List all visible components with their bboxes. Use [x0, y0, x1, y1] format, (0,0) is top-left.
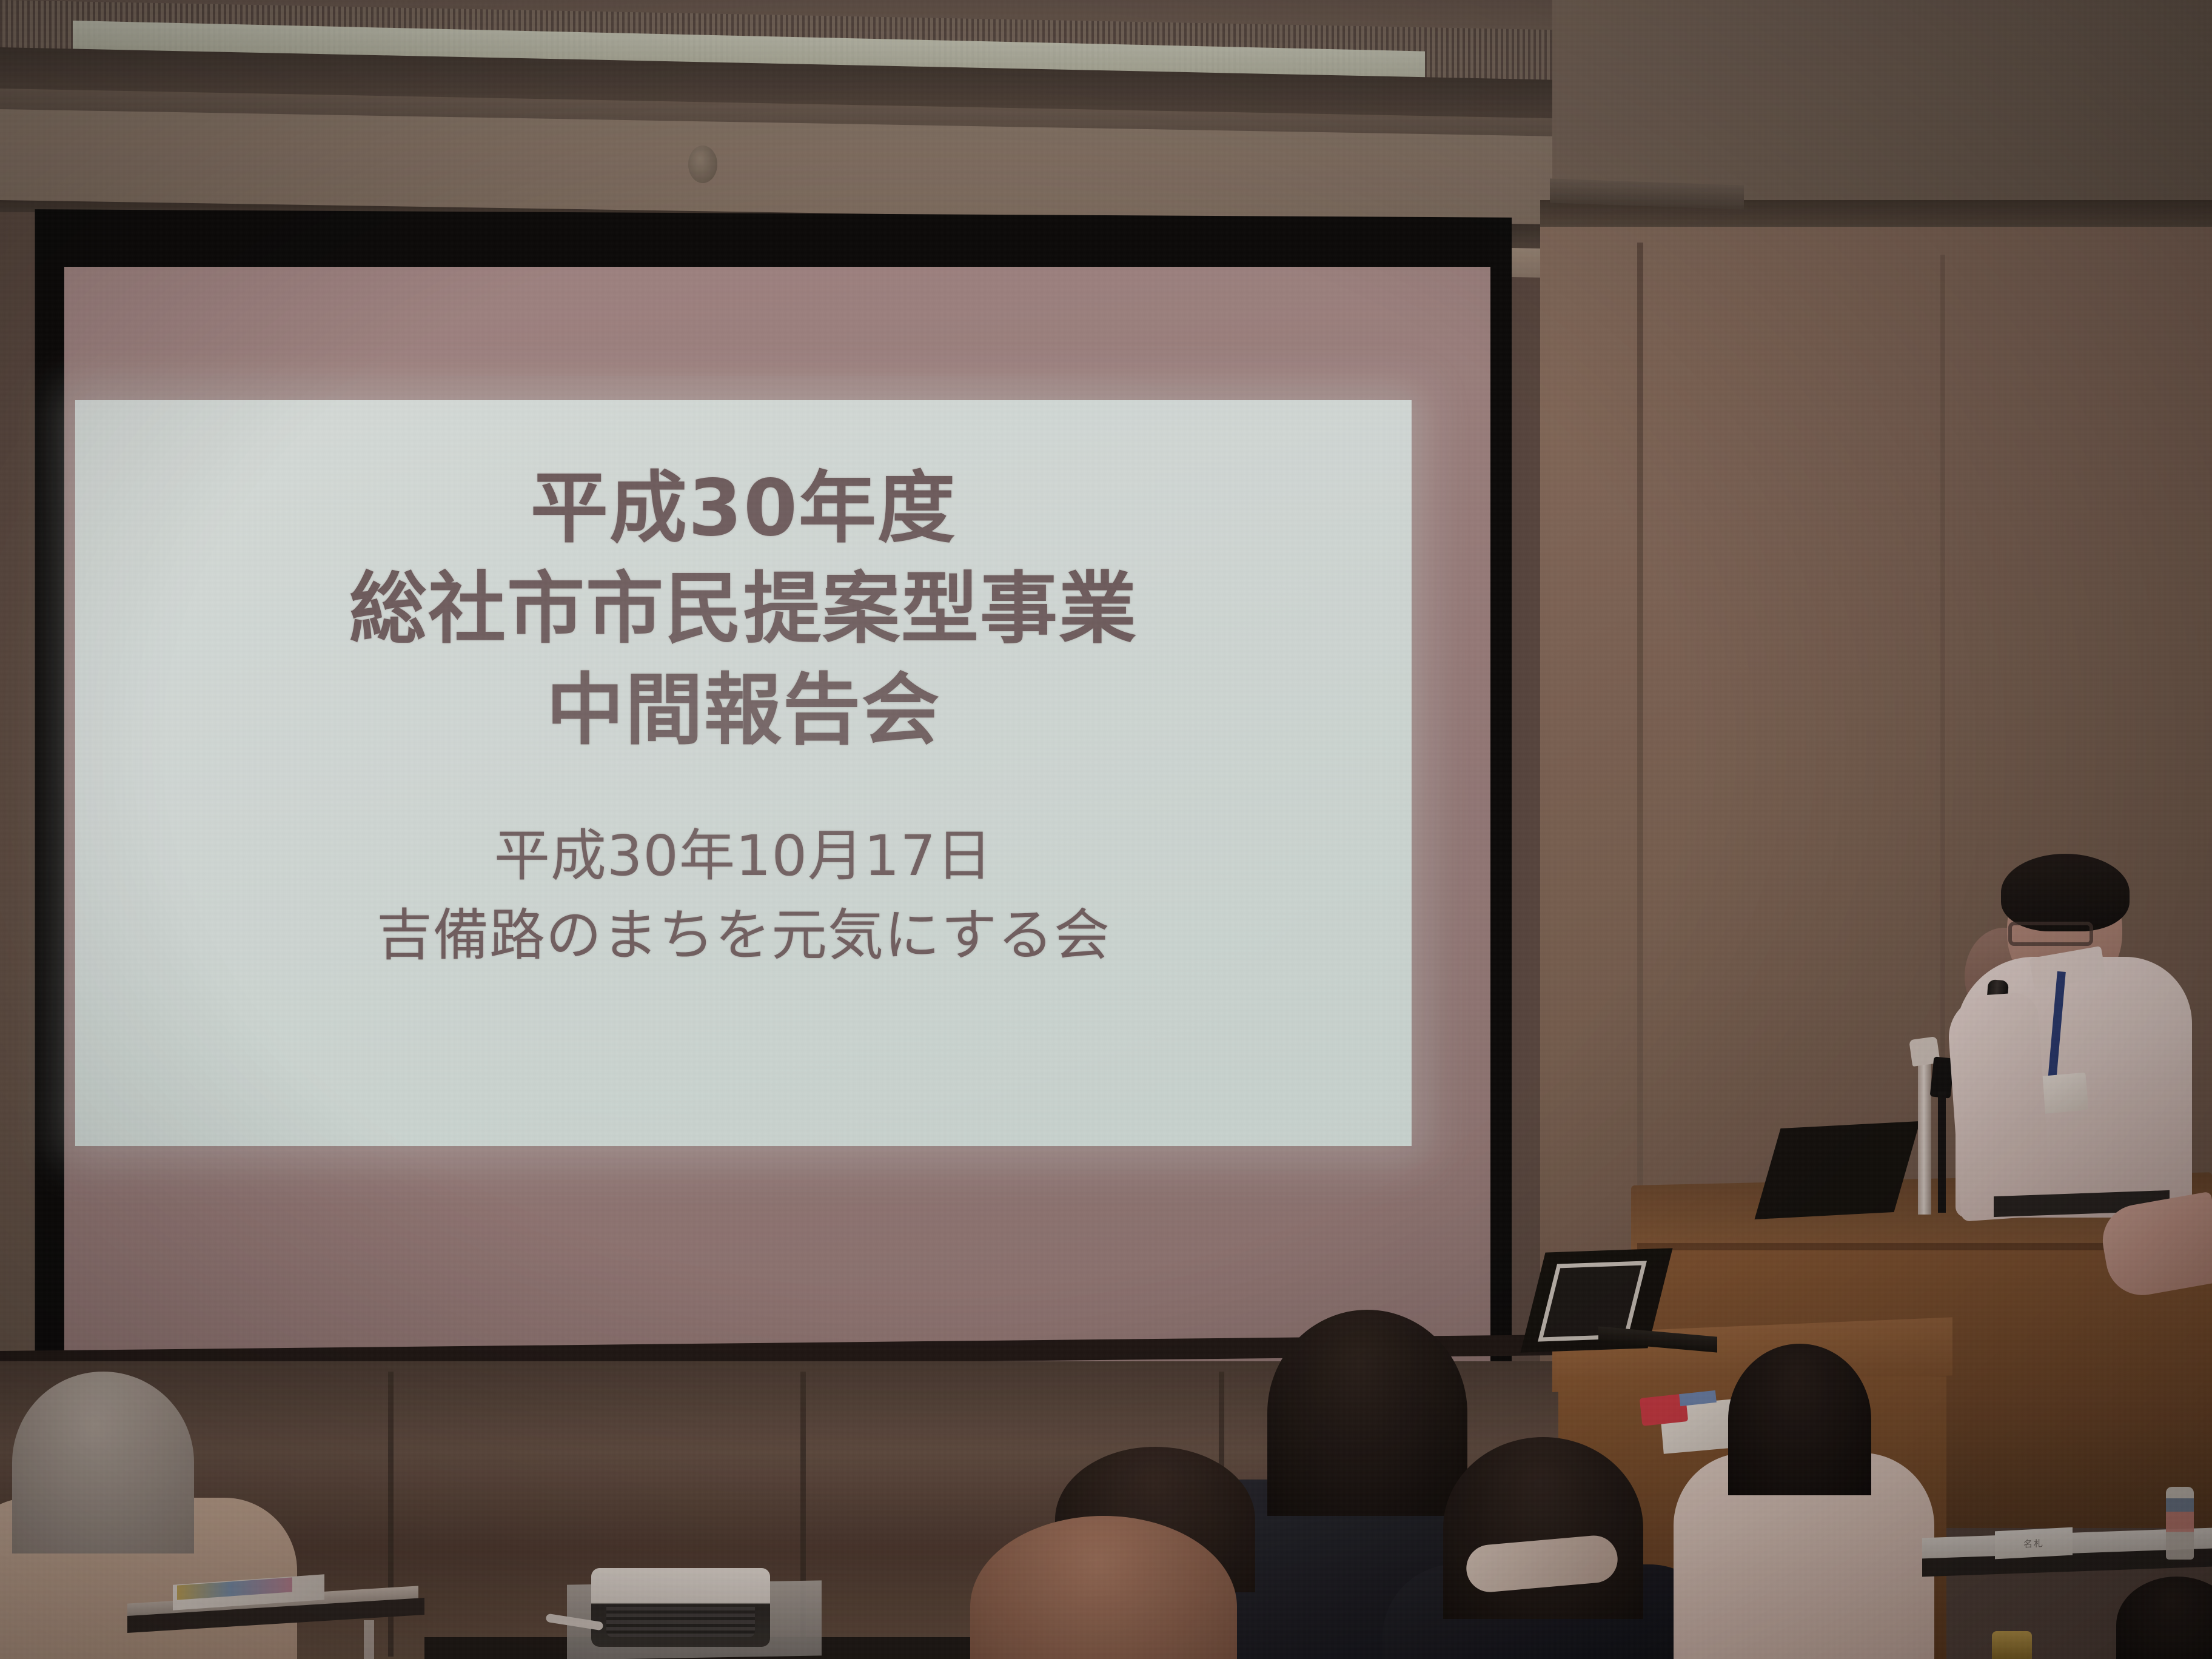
audience-member-head-bob: [1728, 1344, 1871, 1495]
slide-title: 平成30年度 総社市市民提案型事業 中間報告会: [349, 458, 1138, 761]
microphone-stand: [1918, 1052, 1931, 1215]
name-placard: 名札: [1995, 1527, 2073, 1560]
glasses-icon: [2008, 922, 2093, 946]
microphone-cable: [1938, 1091, 1946, 1213]
slide-title-line-1: 平成30年度: [349, 458, 1138, 559]
audience-member-head-grey-hair: [12, 1372, 194, 1553]
projector-vent: [606, 1607, 755, 1637]
audience-member-head-dark: [1443, 1437, 1643, 1619]
slide-subtitle-line-2: 吉備路のまちを元気にする会: [377, 896, 1110, 976]
presenter-arm: [1946, 991, 2052, 1222]
audience-member-head-corner: [2116, 1577, 2212, 1659]
slide-title-line-2: 総社市市民提案型事業: [349, 559, 1138, 660]
wall-seam: [1637, 243, 1643, 1243]
name-placard-text: 名札: [2023, 1537, 2044, 1550]
projected-slide: 平成30年度 総社市市民提案型事業 中間報告会 平成30年10月17日 吉備路の…: [75, 400, 1412, 1146]
wall-seam-secondary: [1940, 255, 1945, 1164]
presenter-hair: [2001, 854, 2130, 931]
slide-subtitle: 平成30年10月17日 吉備路のまちを元気にする会: [377, 817, 1110, 975]
ceiling-light-icon: [688, 146, 717, 183]
laptop-icon-back: [1754, 1121, 1920, 1219]
photo-scene: 平成30年度 総社市市民提案型事業 中間報告会 平成30年10月17日 吉備路の…: [0, 0, 2212, 1659]
slide-title-line-3: 中間報告会: [349, 660, 1138, 761]
water-bottle-icon: [2166, 1487, 2194, 1560]
canned-drink-icon: [1992, 1631, 2032, 1659]
table-left-leg: [364, 1620, 374, 1659]
audience-member-head-suit: [1267, 1310, 1467, 1516]
slide-subtitle-line-1: 平成30年10月17日: [377, 817, 1110, 896]
